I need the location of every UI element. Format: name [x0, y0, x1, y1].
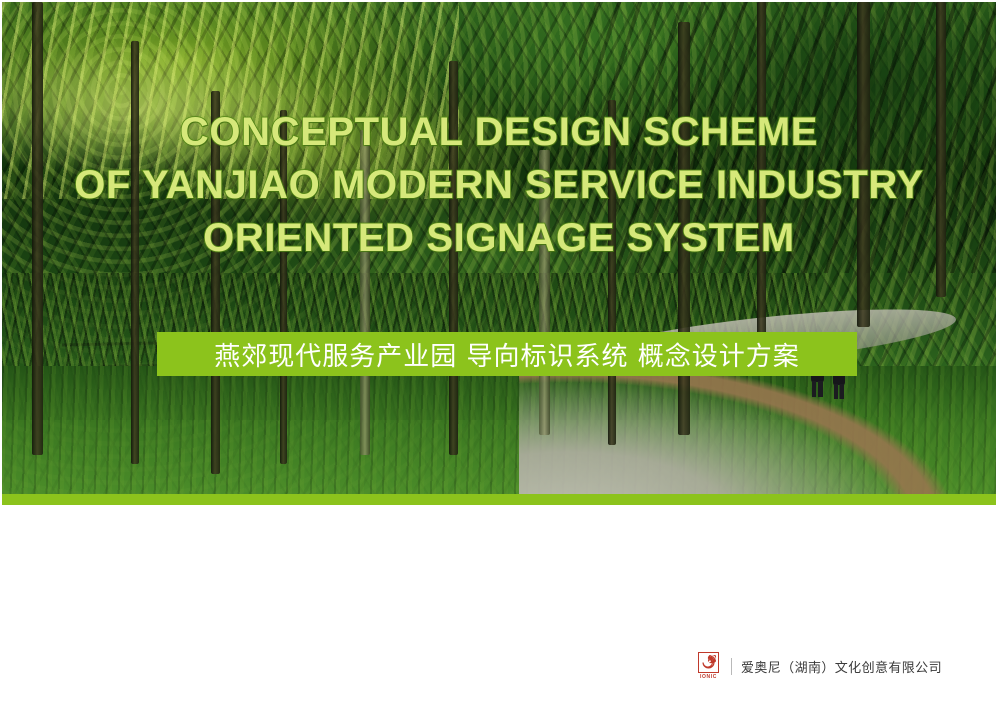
footer: IONIC 爱奥尼（湖南）文化创意有限公司	[695, 651, 942, 681]
tree-trunk	[608, 100, 616, 444]
green-accent-bar	[2, 494, 996, 505]
tree-trunk	[449, 61, 458, 455]
tree-trunk	[211, 91, 220, 475]
photo-dark-canopy	[579, 2, 996, 273]
ionic-logo-wordmark: IONIC	[700, 674, 717, 680]
tree-trunk	[857, 2, 870, 327]
tree-trunk	[936, 2, 946, 297]
footer-divider	[731, 658, 732, 675]
chinese-subtitle-banner: 燕郊现代服务产业园 导向标识系统 概念设计方案	[157, 332, 857, 376]
ionic-logo: IONIC	[695, 651, 722, 681]
tree-trunk	[280, 110, 287, 464]
tree-trunk	[757, 2, 766, 366]
spiral-icon	[698, 652, 719, 673]
tree-trunk	[131, 41, 139, 464]
company-name: 爱奥尼（湖南）文化创意有限公司	[741, 657, 942, 676]
chinese-subtitle-text: 燕郊现代服务产业园 导向标识系统 概念设计方案	[214, 336, 800, 373]
hero-photo: CONCEPTUAL DESIGN SCHEME OF YANJIAO MODE…	[2, 2, 996, 494]
tree-trunk	[360, 130, 370, 455]
slide-page: CONCEPTUAL DESIGN SCHEME OF YANJIAO MODE…	[0, 0, 1000, 707]
tree-trunk	[32, 2, 43, 455]
tree-trunk	[539, 150, 550, 435]
photo-bright-canopy	[2, 2, 459, 199]
